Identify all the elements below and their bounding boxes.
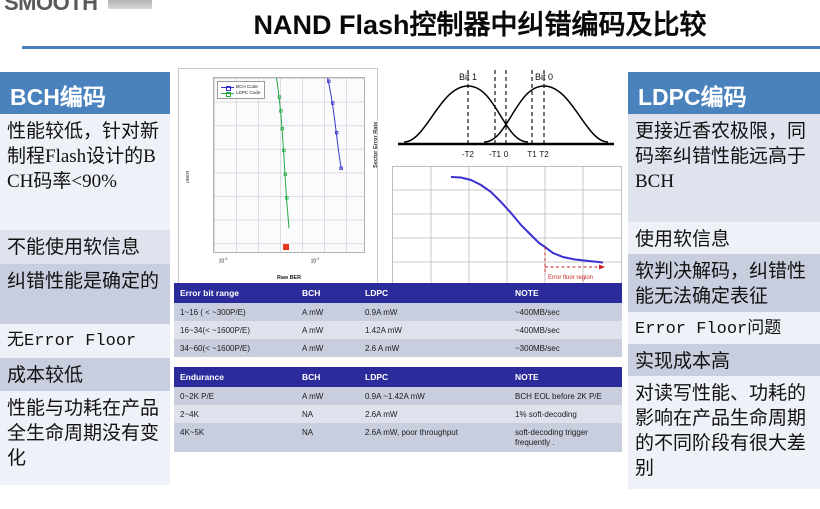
t2-col-1: BCH xyxy=(296,367,359,387)
error-floor-chart: Error floor region xyxy=(392,166,622,286)
ber-series-ldpc xyxy=(275,78,289,228)
bch-row-3: 无Error Floor xyxy=(0,324,170,358)
sector-error-rate-label: Sector Error Rate xyxy=(373,122,379,168)
ldpc-row-1: 使用软信息 xyxy=(628,222,820,254)
ber-red-marker xyxy=(283,244,289,250)
ber-series-bch xyxy=(327,78,342,169)
t2-r1-c1: NA xyxy=(296,405,359,423)
t1-r0-c2: 0.9A mW xyxy=(359,303,509,321)
error-bit-range-table: Error bit range BCH LDPC NOTE 1~16 ( < ~… xyxy=(174,283,622,357)
ber-xtick-1: 10-2 xyxy=(311,257,320,265)
error-floor-grid xyxy=(393,167,621,285)
t2-r2-c2: 2.6A mW, poor throughput xyxy=(359,423,509,452)
ber-waterfall-chart: UBER BCH Code LDPC Code 1e-5 1e-6 1e-7 1… xyxy=(178,68,378,286)
ldpc-row-5: 对读写性能、功耗的影响在产品生命周期的不同阶段有很大差别 xyxy=(628,376,820,489)
bch-row-2: 纠错性能是确定的 xyxy=(0,264,170,324)
ldpc-row-4: 实现成本高 xyxy=(628,344,820,376)
ber-xtick-0: 10-3 xyxy=(219,257,228,265)
t2-r1-c0: 2~4K xyxy=(174,405,296,423)
company-logo: SMOOTH xyxy=(4,0,154,16)
ber-plot-area: BCH Code LDPC Code 1e-5 1e-6 1e-7 1e-8 1… xyxy=(213,77,365,253)
error-floor-svg: Error floor region xyxy=(393,167,621,285)
threshold-lines xyxy=(468,70,544,144)
bch-row-4: 成本较低 xyxy=(0,358,170,391)
tick-neg-t1: -T1 xyxy=(489,150,502,159)
bch-panel-heading: BCH编码 xyxy=(0,72,170,114)
table-row: 2~4K NA 2.6A mW 1% soft-decoding xyxy=(174,405,622,423)
t2-r2-c0: 4K~5K xyxy=(174,423,296,452)
t2-r2-c1: NA xyxy=(296,423,359,452)
t1-r2-c0: 34~60(< ~1600P/E) xyxy=(174,339,296,357)
t2-r1-c2: 2.6A mW xyxy=(359,405,509,423)
t1-r0-c3: ~400MB/sec xyxy=(509,303,622,321)
t1-r2-c2: 2.6 A mW xyxy=(359,339,509,357)
ber-legend: BCH Code LDPC Code xyxy=(217,81,265,99)
bit0-curve xyxy=(484,86,608,142)
center-content: UBER BCH Code LDPC Code 1e-5 1e-6 1e-7 1… xyxy=(170,60,628,509)
ldpc-row-2: 软判决解码，纠错性能无法确定表征 xyxy=(628,254,820,312)
t2-r0-c2: 0.9A ~1.42A mW xyxy=(359,387,509,405)
t2-r2-c3: soft-decoding trigger frequently . xyxy=(509,423,622,452)
page-title: NAND Flash控制器中纠错编码及比较 xyxy=(150,0,810,44)
t1-col-2: LDPC xyxy=(359,283,509,303)
t1-col-0: Error bit range xyxy=(174,283,296,303)
t1-r1-c3: ~400MB/sec xyxy=(509,321,622,339)
legend-swatch-bch xyxy=(221,87,234,88)
t1-r1-c2: 1.42A mW xyxy=(359,321,509,339)
error-floor-region-label: Error floor region xyxy=(548,275,593,281)
endurance-table: Endurance BCH LDPC NOTE 0~2K P/E A mW 0.… xyxy=(174,367,622,452)
table-header-row: Endurance BCH LDPC NOTE xyxy=(174,367,622,387)
tick-t1: T1 xyxy=(527,150,537,159)
t2-col-3: NOTE xyxy=(509,367,622,387)
t2-r1-c3: 1% soft-decoding xyxy=(509,405,622,423)
t1-col-1: BCH xyxy=(296,283,359,303)
ldpc-row-0: 更接近香农极限，同码率纠错性能远高于BCH xyxy=(628,114,820,222)
t2-r0-c3: BCH EOL before 2K P/E xyxy=(509,387,622,405)
t1-r0-c0: 1~16 ( < ~300P/E) xyxy=(174,303,296,321)
logo-chip-icon xyxy=(108,0,152,9)
ber-x-axis-label: Raw BER xyxy=(213,275,365,281)
table-row: 34~60(< ~1600P/E) A mW 2.6 A mW ~300MB/s… xyxy=(174,339,622,357)
slide-root: SMOOTH NAND Flash控制器中纠错编码及比较 BCH编码 性能较低，… xyxy=(0,0,820,509)
bit-distribution-diagram: Bit 1 Bit 0 -T2 -T1 0 T1 T2 xyxy=(392,62,620,166)
table-row: 0~2K P/E A mW 0.9A ~1.42A mW BCH EOL bef… xyxy=(174,387,622,405)
table-row: 4K~5K NA 2.6A mW, poor throughput soft-d… xyxy=(174,423,622,452)
t2-col-2: LDPC xyxy=(359,367,509,387)
t2-col-0: Endurance xyxy=(174,367,296,387)
bch-row-0: 性能较低，针对新制程Flash设计的BCH码率<90% xyxy=(0,114,170,230)
table-header-row: Error bit range BCH LDPC NOTE xyxy=(174,283,622,303)
ber-y-axis-label: UBER xyxy=(185,171,190,184)
t2-r0-c1: A mW xyxy=(296,387,359,405)
tick-zero: 0 xyxy=(504,150,509,159)
table-row: 16~34(< ~1600P/E) A mW 1.42A mW ~400MB/s… xyxy=(174,321,622,339)
bit-distribution-svg: Bit 1 Bit 0 -T2 -T1 0 T1 T2 xyxy=(392,62,620,166)
legend-swatch-ldpc xyxy=(221,93,234,94)
t1-r2-c3: ~300MB/sec xyxy=(509,339,622,357)
ldpc-panel: LDPC编码 更接近香农极限，同码率纠错性能远高于BCH 使用软信息 软判决解码… xyxy=(628,72,820,489)
bit1-curve xyxy=(404,86,528,142)
title-divider xyxy=(22,46,820,49)
t1-col-3: NOTE xyxy=(509,283,622,303)
t1-r0-c1: A mW xyxy=(296,303,359,321)
legend-label-ldpc: LDPC Code xyxy=(236,90,261,96)
tick-neg-t2: -T2 xyxy=(462,150,475,159)
error-floor-arrowhead xyxy=(599,265,605,270)
tick-t2: T2 xyxy=(539,150,549,159)
t1-r1-c1: A mW xyxy=(296,321,359,339)
ber-series-svg xyxy=(214,78,364,252)
t1-r1-c0: 16~34(< ~1600P/E) xyxy=(174,321,296,339)
bch-panel: BCH编码 性能较低，针对新制程Flash设计的BCH码率<90% 不能使用软信… xyxy=(0,72,170,485)
ldpc-panel-heading: LDPC编码 xyxy=(628,72,820,114)
bch-row-1: 不能使用软信息 xyxy=(0,230,170,264)
table-row: 1~16 ( < ~300P/E) A mW 0.9A mW ~400MB/se… xyxy=(174,303,622,321)
ldpc-row-3: Error Floor问题 xyxy=(628,312,820,344)
t1-r2-c1: A mW xyxy=(296,339,359,357)
bch-row-5: 性能与功耗在产品全生命周期没有变化 xyxy=(0,391,170,485)
t2-r0-c0: 0~2K P/E xyxy=(174,387,296,405)
